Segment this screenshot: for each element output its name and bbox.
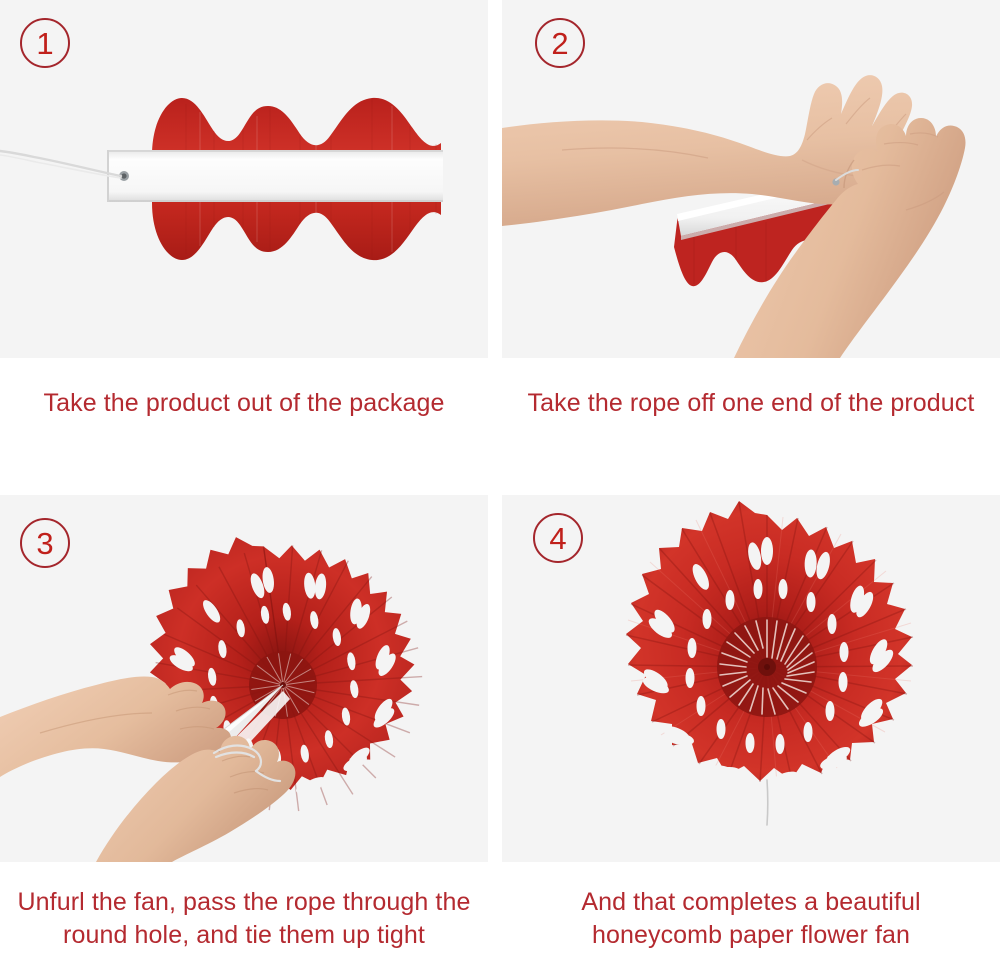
step-4-number-badge: 4 xyxy=(533,513,583,563)
step-4-image-panel: 4 xyxy=(502,495,1000,862)
step-4-caption-line-2: honeycomb paper flower fan xyxy=(510,919,992,952)
step-3-caption-line-1: Unfurl the fan, pass the rope through th… xyxy=(8,886,480,919)
finished-honeycomb-fan xyxy=(626,501,913,790)
lower-right-hand xyxy=(96,736,295,862)
step-2: 2 Take the rope off one end of the produ… xyxy=(502,0,1000,420)
step-3-image-panel: 3 xyxy=(0,495,488,862)
step-3-caption-line-2: round hole, and tie them up tight xyxy=(8,919,480,952)
step-1-caption: Take the product out of the package xyxy=(0,387,488,420)
step-4-caption: And that completes a beautiful honeycomb… xyxy=(502,886,1000,952)
step-2-number-badge: 2 xyxy=(535,18,585,68)
step-1: 1 Take the product out of the package xyxy=(0,0,488,420)
step-4: 4 And that completes a beautiful honeyco… xyxy=(502,495,1000,952)
step-2-caption: Take the rope off one end of the product xyxy=(502,387,1000,420)
step-1-illustration xyxy=(0,0,488,358)
white-card-strip xyxy=(107,150,443,202)
step-1-image-panel: 1 xyxy=(0,0,488,358)
step-3-caption: Unfurl the fan, pass the rope through th… xyxy=(0,886,488,952)
instruction-sheet: 1 Take the product out of the package xyxy=(0,0,1000,956)
step-3-number-badge: 3 xyxy=(20,518,70,568)
step-2-image-panel: 2 xyxy=(502,0,1000,358)
fan-center-hub xyxy=(717,617,817,717)
step-1-number-badge: 1 xyxy=(20,18,70,68)
step-4-caption-line-1: And that completes a beautiful xyxy=(510,886,992,919)
step-3: 3 Unfurl the fan, pass the rope through … xyxy=(0,495,488,952)
hanging-string xyxy=(767,780,768,825)
step-3-illustration xyxy=(0,495,488,862)
